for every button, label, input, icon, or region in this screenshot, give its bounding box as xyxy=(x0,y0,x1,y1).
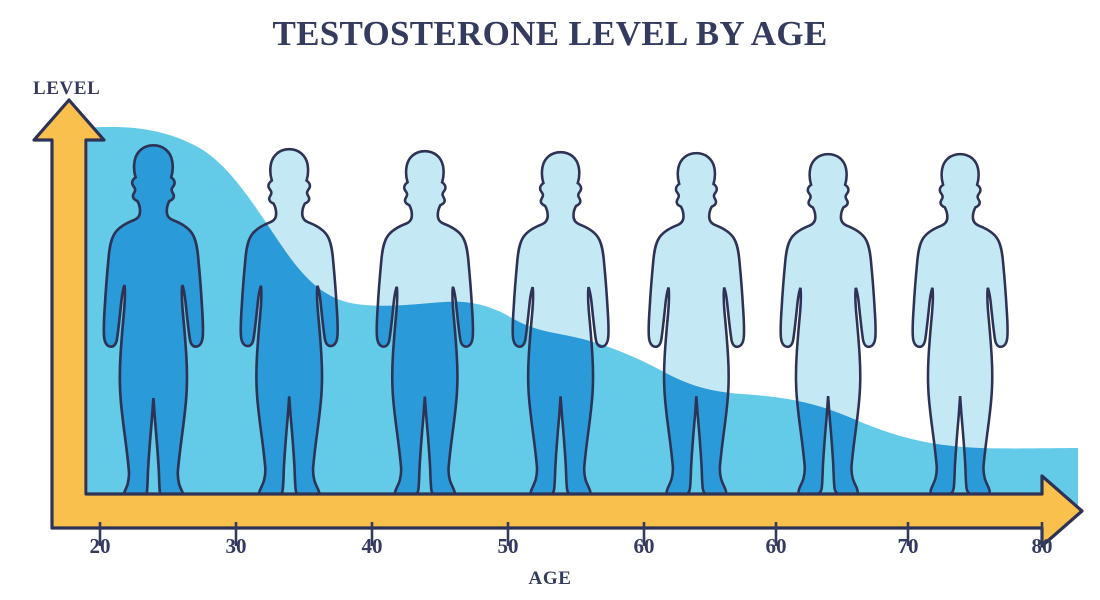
x-tick-label: 50 xyxy=(478,534,538,559)
infographic-root: TESTOSTERONE LEVEL BY AGE LEVEL AGE xyxy=(0,0,1100,600)
x-tick-label: 80 xyxy=(1012,534,1072,559)
x-tick-label: 40 xyxy=(342,534,402,559)
x-tick-label: 30 xyxy=(206,534,266,559)
x-tick-label: 60 xyxy=(746,534,806,559)
x-tick-label: 60 xyxy=(614,534,674,559)
x-tick-label: 20 xyxy=(70,534,130,559)
x-tick-label: 70 xyxy=(878,534,938,559)
area-chart-plot xyxy=(0,0,1100,600)
